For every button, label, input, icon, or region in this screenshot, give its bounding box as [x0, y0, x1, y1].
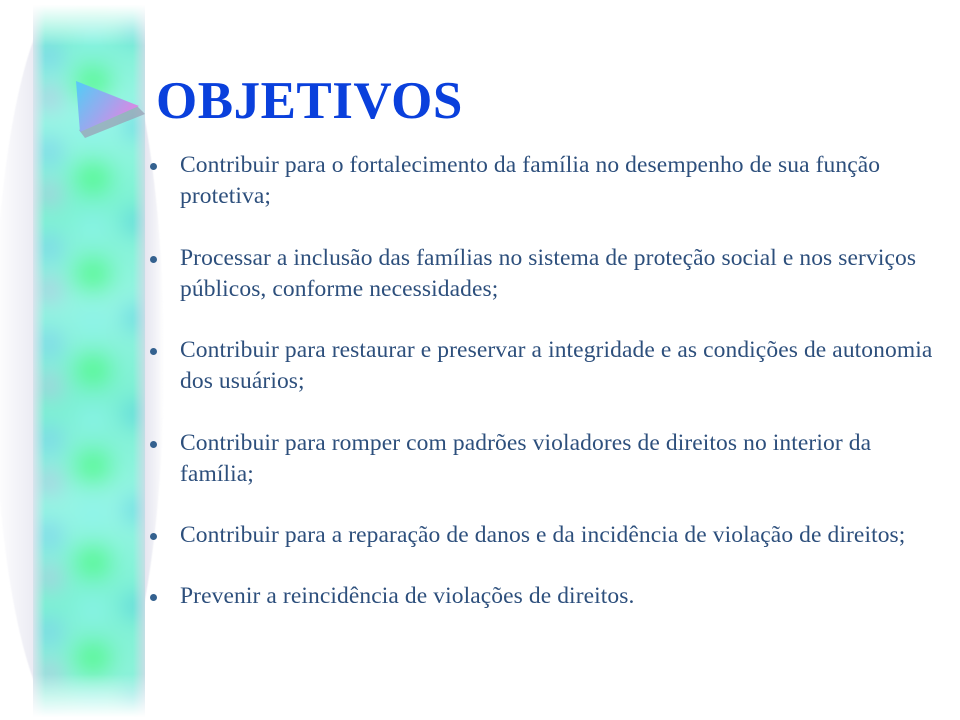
bullet-dot-icon	[150, 256, 157, 263]
list-item-text: Contribuir para restaurar e preservar a …	[180, 335, 950, 398]
list-item-text: Contribuir para o fortalecimento da famí…	[180, 150, 950, 213]
list-item: Contribuir para o fortalecimento da famí…	[150, 150, 950, 213]
decorative-sidebar	[0, 0, 175, 720]
mosaic-left-edge-fade	[33, 0, 45, 720]
presentation-slide: OBJETIVOS Contribuir para o fortalecimen…	[0, 0, 960, 720]
triangle-ornament	[55, 48, 155, 148]
list-item: Prevenir a reincidência de violações de …	[150, 581, 950, 612]
bullet-dot-icon	[150, 163, 157, 170]
bullet-dot-icon	[150, 348, 157, 355]
list-item-text: Contribuir para a reparação de danos e d…	[180, 520, 950, 551]
list-item: Processar a inclusão das famílias no sis…	[150, 243, 950, 306]
list-item-text: Prevenir a reincidência de violações de …	[180, 581, 950, 612]
objectives-list: Contribuir para o fortalecimento da famí…	[150, 150, 950, 643]
list-item: Contribuir para restaurar e preservar a …	[150, 335, 950, 398]
page-title: OBJETIVOS	[156, 75, 463, 128]
list-item: Contribuir para a reparação de danos e d…	[150, 520, 950, 551]
list-item-text: Contribuir para romper com padrões viola…	[180, 428, 950, 491]
bullet-dot-icon	[150, 441, 157, 448]
bullet-dot-icon	[150, 533, 157, 540]
list-item-text: Processar a inclusão das famílias no sis…	[180, 243, 950, 306]
list-item: Contribuir para romper com padrões viola…	[150, 428, 950, 491]
bullet-dot-icon	[150, 594, 157, 601]
